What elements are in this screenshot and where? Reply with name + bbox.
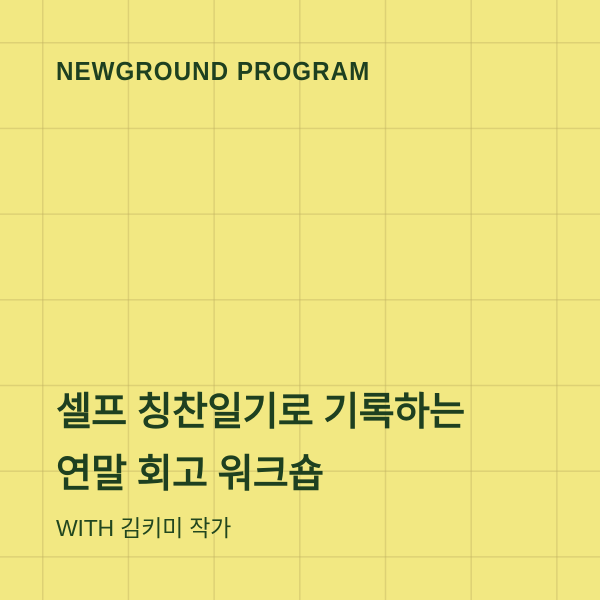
title-line-1: 셀프 칭찬일기로 기록하는: [56, 382, 576, 444]
poster-title: 셀프 칭찬일기로 기록하는 연말 회고 워크숍: [56, 382, 576, 506]
title-line-2: 연말 회고 워크숍: [56, 444, 576, 506]
poster-subtitle-speaker: WITH 김키미 작가: [56, 512, 231, 544]
promo-poster: NEWGROUND PROGRAM 셀프 칭찬일기로 기록하는 연말 회고 워크…: [0, 0, 600, 600]
poster-content: NEWGROUND PROGRAM 셀프 칭찬일기로 기록하는 연말 회고 워크…: [0, 0, 600, 600]
program-eyebrow-label: NEWGROUND PROGRAM: [56, 56, 370, 86]
